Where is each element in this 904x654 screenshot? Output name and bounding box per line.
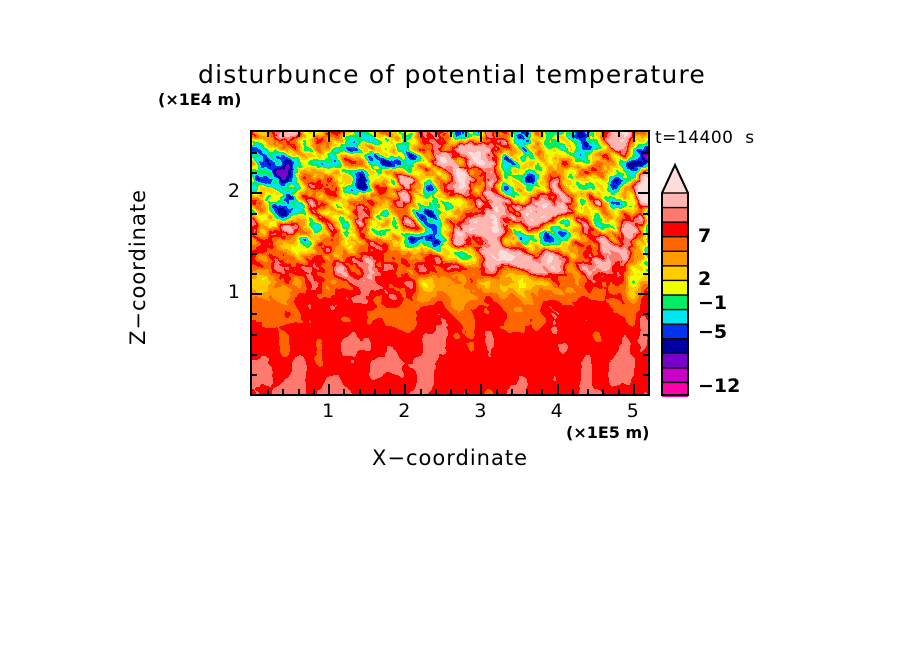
x-tick-label: 1: [313, 400, 343, 422]
y-tick-right: [643, 374, 648, 376]
y-tick-left: [252, 172, 257, 174]
x-tick-bottom: [465, 389, 467, 394]
x-tick-top: [313, 132, 315, 137]
x-tick-label: 3: [465, 400, 495, 422]
colorbar-tick-label: −12: [698, 375, 740, 397]
y-tick-left: [252, 233, 257, 235]
y-tick-right: [643, 253, 648, 255]
x-tick-label: 4: [542, 400, 572, 422]
contour-plot-figure: disturbunce of potential temperature (×1…: [0, 0, 904, 654]
y-tick-label: 2: [210, 180, 240, 202]
temperature-field-canvas: [252, 132, 648, 394]
x-tick-bottom: [618, 389, 620, 394]
y-tick-left: [252, 213, 257, 215]
x-axis-label: X−coordinate: [252, 446, 648, 470]
x-tick-bottom: [282, 389, 284, 394]
y-tick-right: [643, 313, 648, 315]
x-tick-bottom: [602, 389, 604, 394]
colorbar-tick-label: −5: [698, 321, 727, 343]
x-tick-top: [572, 132, 574, 137]
heatmap-plot-area: [252, 132, 648, 394]
y-tick-left: [252, 152, 257, 154]
x-tick-bottom: [435, 389, 437, 394]
x-tick-top: [359, 132, 361, 137]
x-tick-top: [450, 132, 452, 137]
x-tick-top: [389, 132, 391, 137]
y-tick-right: [638, 293, 648, 295]
x-tick-bottom: [313, 389, 315, 394]
x-tick-top: [587, 132, 589, 137]
x-tick-top: [480, 132, 482, 142]
x-tick-label: 2: [389, 400, 419, 422]
x-tick-top: [343, 132, 345, 137]
y-tick-right: [643, 233, 648, 235]
x-tick-top: [618, 132, 620, 137]
x-tick-bottom: [557, 384, 559, 394]
y-tick-right: [643, 172, 648, 174]
x-tick-label: 5: [618, 400, 648, 422]
y-tick-left: [252, 354, 257, 356]
y-tick-left: [252, 374, 257, 376]
y-tick-left: [252, 273, 257, 275]
x-tick-bottom: [480, 384, 482, 394]
y-tick-right: [643, 213, 648, 215]
y-tick-right: [638, 192, 648, 194]
x-tick-top: [267, 132, 269, 137]
x-tick-bottom: [359, 389, 361, 394]
x-tick-top: [511, 132, 513, 137]
x-tick-bottom: [374, 389, 376, 394]
y-tick-left: [252, 253, 257, 255]
y-tick-right: [643, 152, 648, 154]
colorbar: [658, 163, 692, 397]
x-tick-bottom: [526, 389, 528, 394]
y-axis-label: Z−coordinate: [126, 69, 150, 465]
x-axis-unit-label: (×1E5 m): [566, 423, 649, 442]
x-tick-top: [633, 132, 635, 142]
x-tick-top: [435, 132, 437, 137]
x-tick-bottom: [587, 389, 589, 394]
x-tick-top: [541, 132, 543, 137]
x-tick-bottom: [572, 389, 574, 394]
x-tick-bottom: [633, 384, 635, 394]
colorbar-canvas: [658, 163, 692, 397]
x-tick-bottom: [267, 389, 269, 394]
x-tick-top: [374, 132, 376, 137]
x-tick-bottom: [298, 389, 300, 394]
x-tick-top: [465, 132, 467, 137]
y-tick-left: [252, 192, 262, 194]
x-tick-top: [404, 132, 406, 142]
time-annotation: t=14400 s: [655, 128, 755, 148]
y-tick-right: [643, 354, 648, 356]
x-tick-bottom: [450, 389, 452, 394]
y-axis-unit-label: (×1E4 m): [158, 90, 241, 109]
colorbar-tick-label: −1: [698, 292, 727, 314]
y-tick-right: [643, 273, 648, 275]
x-tick-bottom: [496, 389, 498, 394]
x-tick-top: [557, 132, 559, 142]
x-tick-bottom: [328, 384, 330, 394]
x-tick-bottom: [541, 389, 543, 394]
x-tick-top: [328, 132, 330, 142]
x-tick-top: [282, 132, 284, 137]
y-tick-left: [252, 313, 257, 315]
x-tick-bottom: [420, 389, 422, 394]
x-tick-top: [602, 132, 604, 137]
y-tick-left: [252, 334, 257, 336]
x-tick-bottom: [343, 389, 345, 394]
x-tick-top: [526, 132, 528, 137]
x-tick-top: [496, 132, 498, 137]
colorbar-tick-label: 7: [698, 225, 711, 247]
y-tick-left: [252, 293, 262, 295]
colorbar-tick-label: 2: [698, 268, 711, 290]
x-tick-bottom: [511, 389, 513, 394]
y-tick-label: 1: [210, 281, 240, 303]
x-tick-bottom: [404, 384, 406, 394]
x-tick-top: [298, 132, 300, 137]
x-tick-top: [420, 132, 422, 137]
x-tick-bottom: [389, 389, 391, 394]
y-tick-right: [643, 334, 648, 336]
